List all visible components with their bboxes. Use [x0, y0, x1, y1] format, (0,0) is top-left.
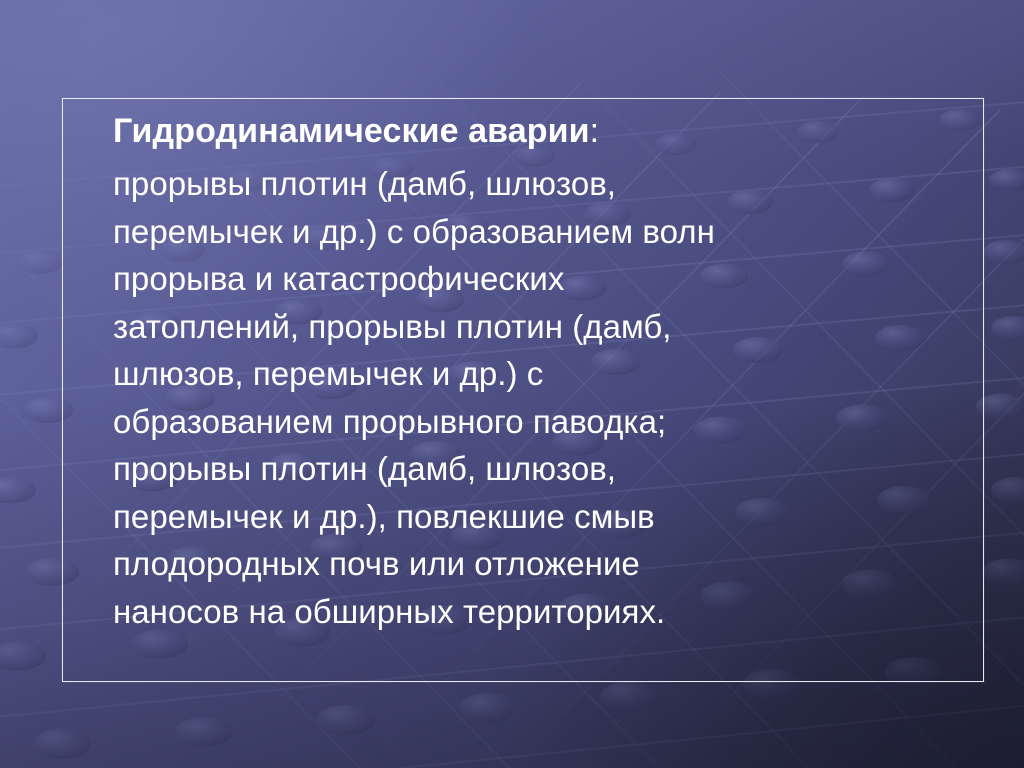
body-line: затоплений, прорывы плотин (дамб, — [113, 303, 973, 351]
slide-text-block: Гидродинамические аварии: прорывы плотин… — [113, 108, 973, 635]
body-line: прорывы плотин (дамб, шлюзов, — [113, 445, 973, 493]
body-line: плодородных почв или отложение — [113, 540, 973, 588]
body-line: наносов на обширных территориях. — [113, 588, 973, 636]
slide-title-main: Гидродинамические аварии — [113, 112, 590, 150]
presentation-slide: Гидродинамические аварии: прорывы плотин… — [0, 0, 1024, 768]
slide-title-punctuation: : — [590, 112, 600, 150]
slide-title: Гидродинамические аварии: — [113, 108, 973, 154]
body-line: прорывы плотин (дамб, шлюзов, — [113, 160, 973, 208]
body-line: перемычек и др.) с образованием волн — [113, 208, 973, 256]
body-line: образованием прорывного паводка; — [113, 398, 973, 446]
body-line: перемычек и др.), повлекшие смыв — [113, 493, 973, 541]
body-line: прорыва и катастрофических — [113, 255, 973, 303]
body-line: шлюзов, перемычек и др.) с — [113, 350, 973, 398]
